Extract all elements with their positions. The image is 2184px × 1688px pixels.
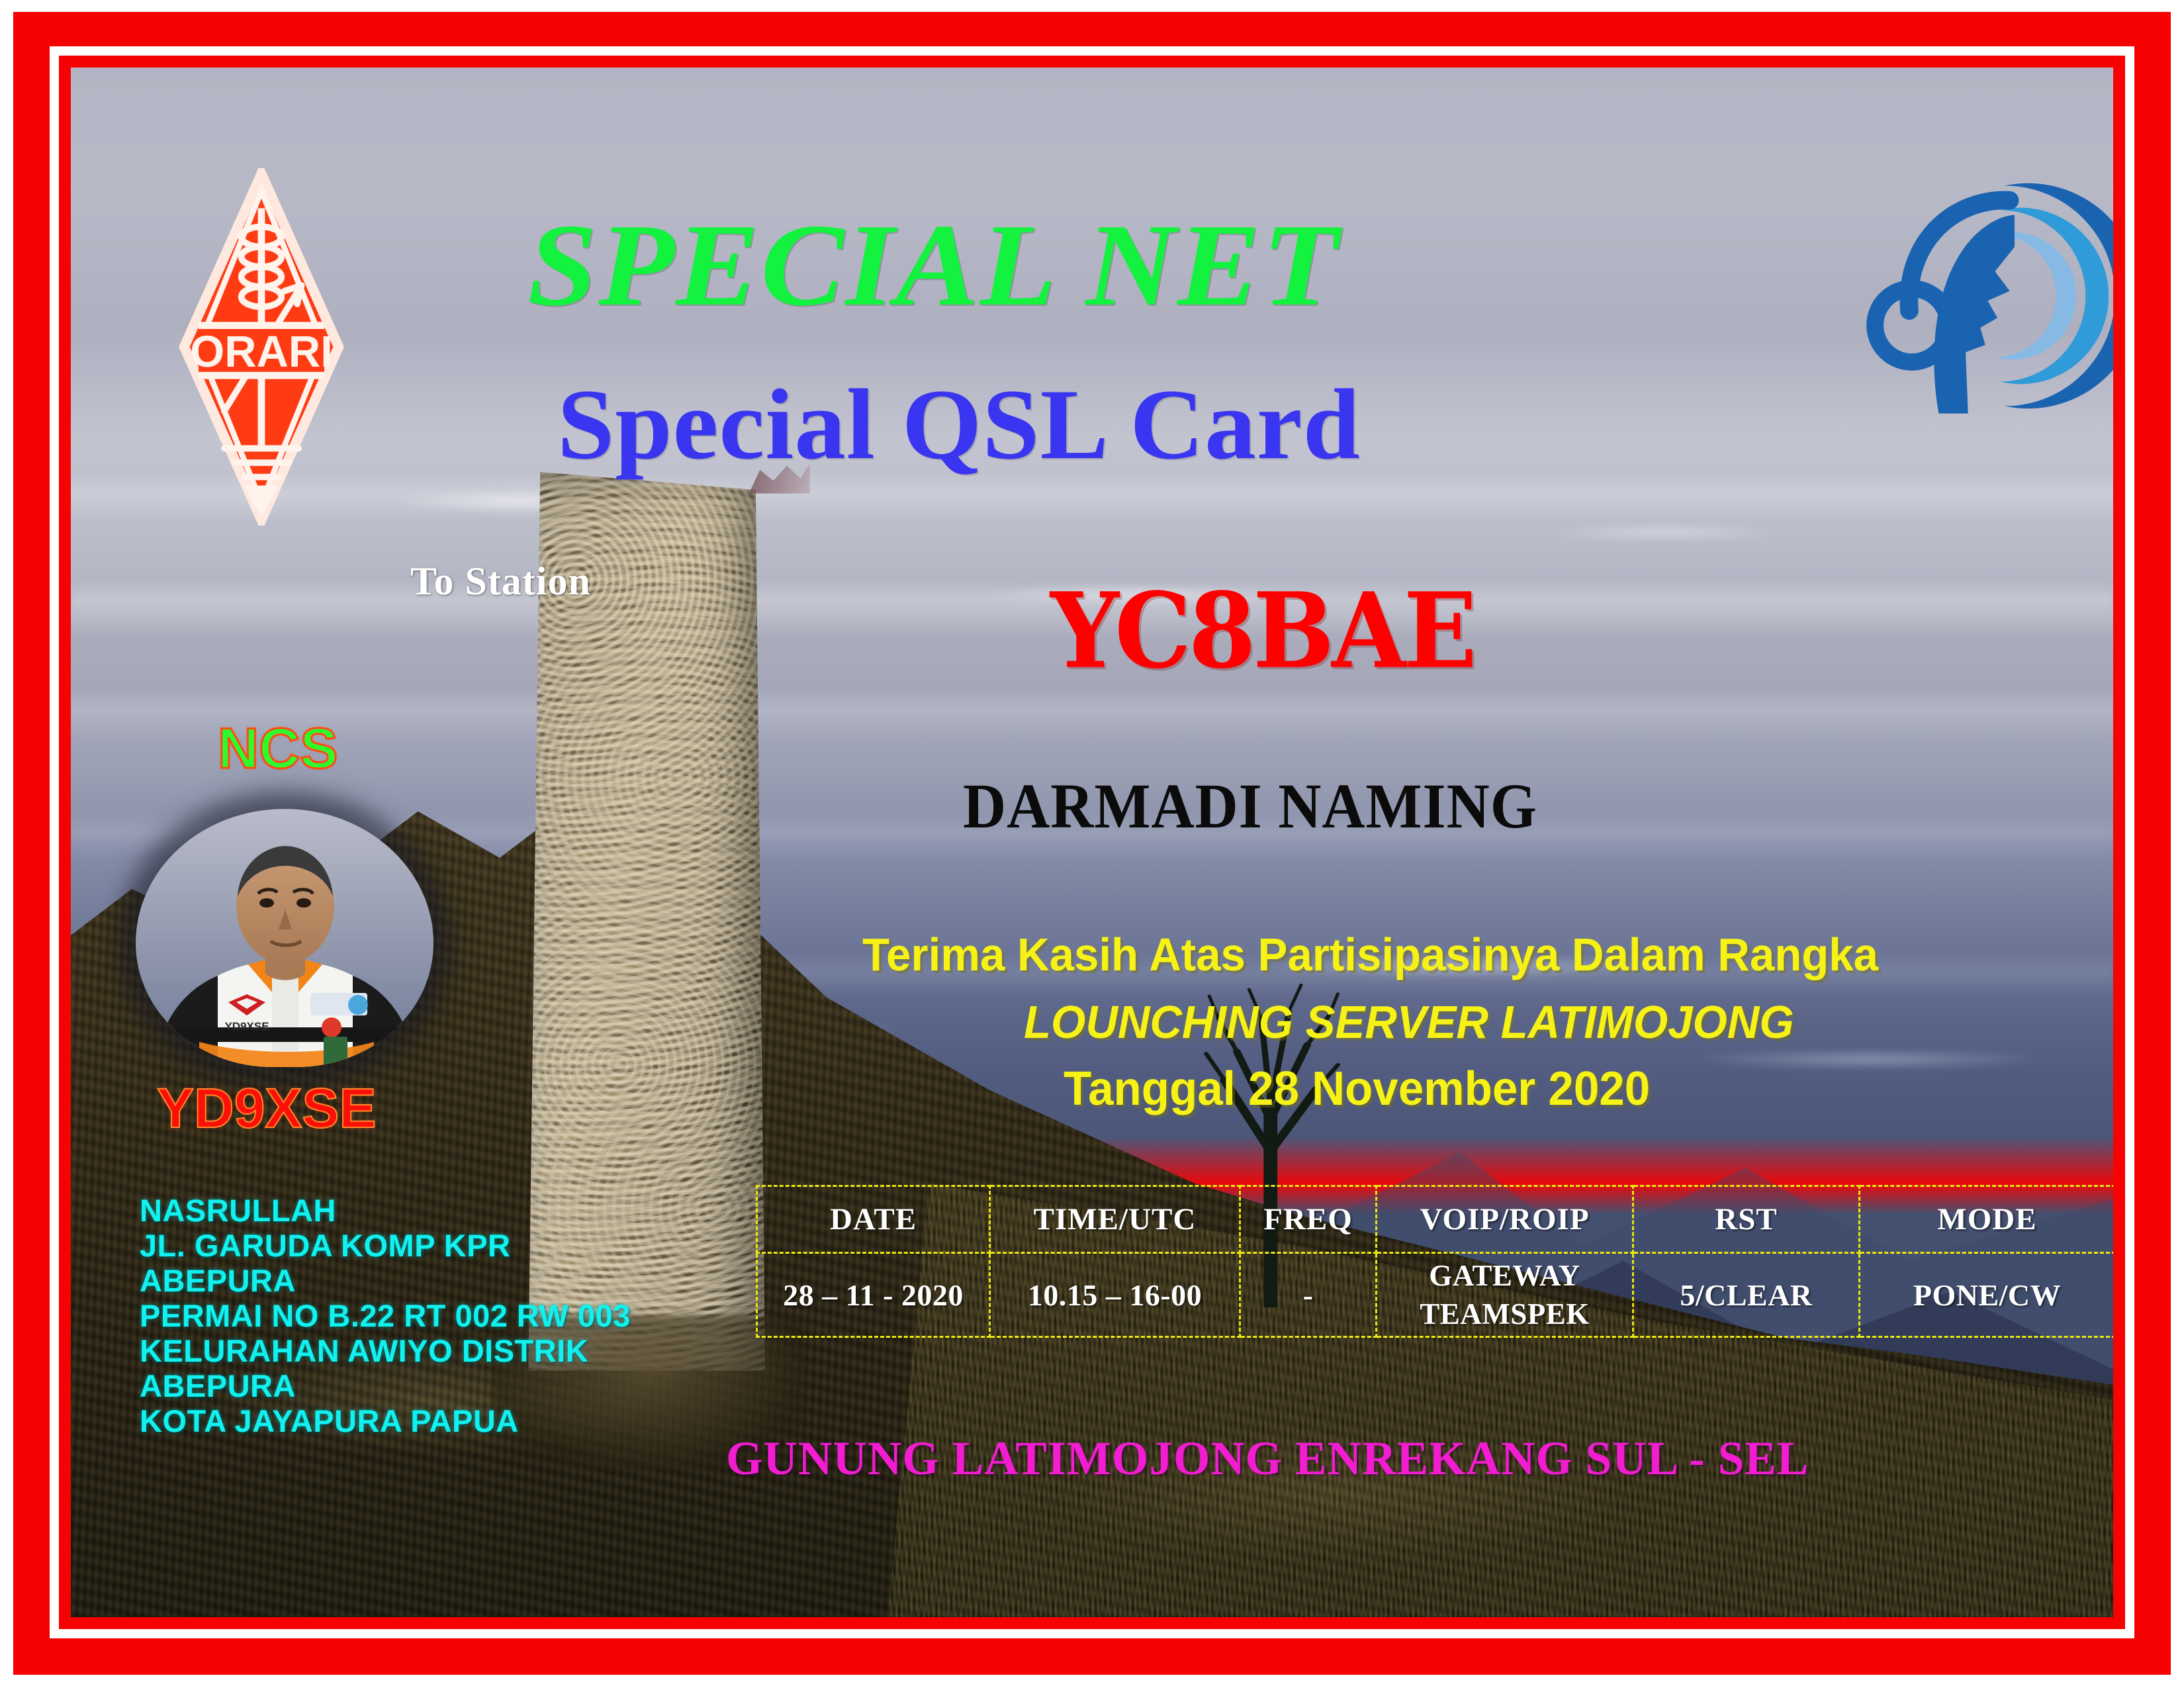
ncs-callsign: YD9XSE	[157, 1076, 377, 1141]
qso-log-table: DATE TIME/UTC FREQ VOIP/ROIP RST MODE 28…	[756, 1185, 2113, 1338]
thanks-line-3: Tanggal 28 November 2020	[1064, 1062, 1650, 1116]
address-block: NASRULLAH JL. GARUDA KOMP KPR ABEPURA PE…	[140, 1193, 631, 1438]
cell-date: 28 – 11 - 2020	[757, 1253, 990, 1337]
cell-voip-roip-line2: TEAMSPEK	[1377, 1295, 1632, 1333]
table-header-freq: FREQ	[1240, 1186, 1377, 1253]
table-header-voip-roip: VOIP/ROIP	[1377, 1186, 1633, 1253]
cell-voip-roip-line1: GATEWAY	[1377, 1256, 1632, 1295]
white-frame-gap: ORARI	[50, 46, 2134, 1638]
card-photo-area: ORARI	[71, 68, 2113, 1617]
table-row: 28 – 11 - 2020 10.15 – 16-00 - GATEWAY T…	[757, 1253, 2114, 1337]
orari-logo-text: ORARI	[190, 327, 333, 377]
ncs-operator-photo: YD9XSE	[136, 809, 433, 1067]
thanks-line-1: Terima Kasih Atas Partisipasinya Dalam R…	[862, 928, 1878, 981]
table-header-row: DATE TIME/UTC FREQ VOIP/ROIP RST MODE	[757, 1186, 2114, 1253]
cell-freq: -	[1240, 1253, 1377, 1337]
net-headphone-face-logo	[1864, 173, 2113, 418]
page-subtitle: Special QSL Card	[557, 367, 1361, 482]
address-line: NASRULLAH	[140, 1193, 631, 1228]
inner-red-frame: ORARI	[59, 56, 2125, 1629]
address-line: PERMAI NO B.22 RT 002 RW 003	[140, 1298, 631, 1333]
table-header-time: TIME/UTC	[990, 1186, 1240, 1253]
cell-time: 10.15 – 16-00	[990, 1253, 1240, 1337]
ncs-label: NCS	[218, 716, 338, 782]
address-line: JL. GARUDA KOMP KPR	[140, 1228, 631, 1263]
outer-red-frame: ORARI	[13, 12, 2171, 1675]
table-header-rst: RST	[1633, 1186, 1860, 1253]
address-line: KOTA JAYAPURA PAPUA	[140, 1403, 631, 1438]
uniform-badge-text: YD9XSE	[224, 1020, 269, 1033]
to-station-label: To Station	[410, 559, 591, 604]
qsl-card: ORARI	[0, 0, 2184, 1688]
thanks-line-2: LOUNCHING SERVER LATIMOJONG	[1024, 996, 1794, 1049]
address-line: KELURAHAN AWIYO DISTRIK	[140, 1333, 631, 1368]
operator-name: DARMADI NAMING	[963, 769, 1537, 843]
page-title: SPECIAL NET	[527, 197, 1340, 333]
cell-voip-roip: GATEWAY TEAMSPEK	[1377, 1253, 1633, 1337]
address-line: ABEPURA	[140, 1263, 631, 1298]
table-header-mode: MODE	[1860, 1186, 2114, 1253]
location-line: GUNUNG LATIMOJONG ENREKANG SUL - SEL	[726, 1431, 1809, 1486]
orari-logo: ORARI	[175, 168, 347, 526]
address-line: ABEPURA	[140, 1368, 631, 1403]
cell-mode: PONE/CW	[1860, 1253, 2114, 1337]
station-callsign: YC8BAE	[1050, 571, 1475, 692]
cell-rst: 5/CLEAR	[1633, 1253, 1860, 1337]
table-header-date: DATE	[757, 1186, 990, 1253]
